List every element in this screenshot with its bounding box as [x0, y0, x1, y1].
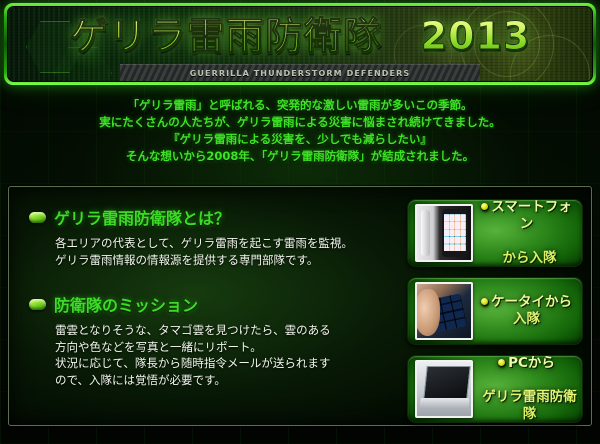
- bullet-dot-icon: [498, 359, 505, 366]
- section-about-body: 各エリアの代表として、ゲリラ雷雨を起こす雷雨を監視。 ゲリラ雷雨情報の情報源を提…: [55, 235, 353, 268]
- intro-paragraph: 「ゲリラ雷雨」と呼ばれる、突発的な激しい雷雨が多いこの季節。 実にたくさんの人た…: [0, 97, 600, 165]
- join-smartphone-button[interactable]: スマートフォン から入隊: [407, 199, 583, 267]
- laptop-base-decor: [420, 398, 470, 408]
- join-featurephone-label-line1: ケータイから入隊: [475, 294, 578, 328]
- page-title: ゲリラ雷雨防衛隊 2013: [8, 12, 592, 60]
- banner-subtitle: GUERRILLA THUNDERSTORM DEFENDERS: [190, 69, 411, 78]
- join-pc-button[interactable]: PCから ゲリラ雷雨防衛隊: [407, 355, 583, 423]
- join-pc-label-line1: PCから: [475, 355, 578, 372]
- section-mission-body: 雷雲となりそうな、タマゴ雲を見つけたら、雲のある 方向や色などを写真と一緒にリポ…: [55, 322, 331, 388]
- feature-phone-image: [415, 282, 473, 340]
- join-featurephone-line1-text: ケータイから入隊: [491, 294, 572, 327]
- smartphone-side-decor: [421, 210, 430, 255]
- section-mission: 防衛隊のミッション 雷雲となりそうな、タマゴ雲を見つけたら、雲のある 方向や色な…: [29, 292, 331, 388]
- join-smartphone-label: スマートフォン から入隊: [473, 199, 582, 267]
- join-smartphone-line2-text: から入隊: [481, 250, 578, 267]
- banner-subtitle-bar: GUERRILLA THUNDERSTORM DEFENDERS: [120, 64, 480, 82]
- hand-decor: [415, 289, 440, 335]
- smartphone-screen-decor: [444, 214, 466, 252]
- lozenge-bullet-icon: [29, 299, 46, 310]
- main-panel: ゲリラ雷雨防衛隊とは？ 各エリアの代表として、ゲリラ雷雨を起こす雷雨を監視。 ゲ…: [8, 186, 592, 426]
- section-about: ゲリラ雷雨防衛隊とは？ 各エリアの代表として、ゲリラ雷雨を起こす雷雨を監視。 ゲ…: [29, 205, 353, 268]
- join-smartphone-label-line1: スマートフォン: [475, 199, 578, 233]
- join-pc-line2-text: ゲリラ雷雨防衛隊: [481, 389, 578, 423]
- join-featurephone-label: ケータイから入隊: [473, 277, 582, 345]
- intro-line-4: そんな想いから2008年、「ゲリラ雷雨防衛隊」が結成されました。: [0, 148, 600, 165]
- laptop-image: [415, 360, 473, 418]
- join-featurephone-button[interactable]: ケータイから入隊: [407, 277, 583, 345]
- header-banner-inner: ゲリラ雷雨防衛隊 2013 GUERRILLA THUNDERSTORM DEF…: [7, 6, 593, 82]
- section-about-title: ゲリラ雷雨防衛隊とは？: [54, 205, 230, 229]
- laptop-screen-decor: [423, 366, 471, 399]
- join-pc-label: PCから ゲリラ雷雨防衛隊: [473, 355, 582, 423]
- section-mission-header: 防衛隊のミッション: [29, 292, 331, 316]
- bullet-dot-icon: [481, 298, 488, 305]
- bullet-dot-icon: [481, 203, 488, 210]
- intro-line-3: 『ゲリラ雷雨による災害を、少しでも減らしたい』: [0, 131, 600, 148]
- join-pc-line1-text: PCから: [508, 355, 555, 371]
- join-smartphone-line1-text: スマートフォン: [491, 199, 572, 232]
- lozenge-bullet-icon: [29, 212, 46, 223]
- section-mission-title: 防衛隊のミッション: [54, 292, 198, 316]
- intro-line-1: 「ゲリラ雷雨」と呼ばれる、突発的な激しい雷雨が多いこの季節。: [0, 97, 600, 114]
- header-banner: ゲリラ雷雨防衛隊 2013 GUERRILLA THUNDERSTORM DEF…: [4, 3, 596, 85]
- intro-line-2: 実にたくさんの人たちが、ゲリラ雷雨による災害に悩まされ続けてきました。: [0, 114, 600, 131]
- section-about-header: ゲリラ雷雨防衛隊とは？: [29, 205, 353, 229]
- smartphone-image: [415, 204, 473, 262]
- page-root: ゲリラ雷雨防衛隊 2013 GUERRILLA THUNDERSTORM DEF…: [0, 0, 600, 444]
